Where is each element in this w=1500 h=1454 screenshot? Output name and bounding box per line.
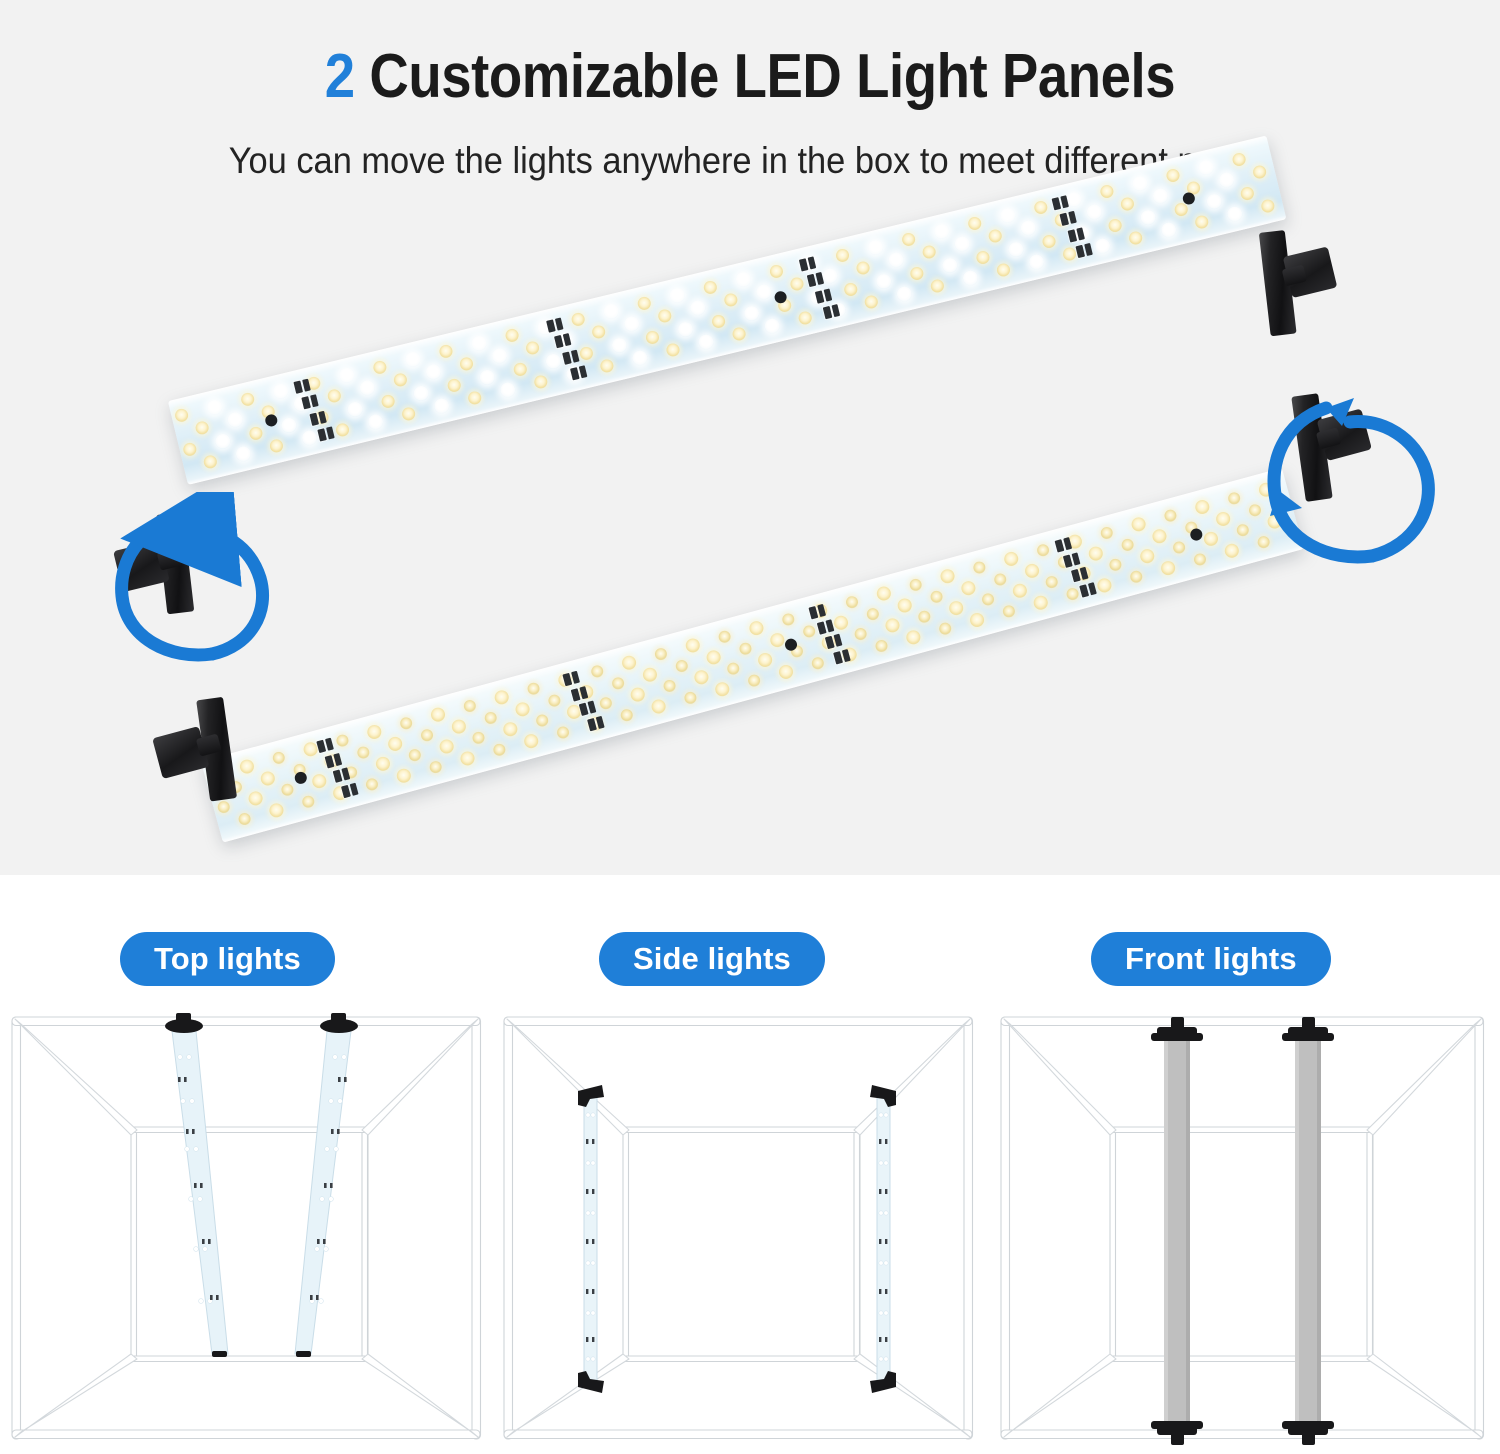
led-dot: [194, 420, 210, 436]
led-dot: [961, 269, 979, 287]
led-dot: [1023, 562, 1040, 579]
led-dot: [1236, 523, 1251, 538]
config-column-top-lights: Top lights: [0, 875, 490, 1454]
led-dot: [909, 265, 925, 281]
label-side-lights: Side lights: [599, 932, 825, 986]
led-dot: [1247, 503, 1262, 518]
led-dot: [734, 271, 752, 289]
led-dot: [1160, 221, 1178, 239]
led-dot: [408, 748, 423, 763]
led-dot: [478, 368, 496, 386]
led-dot: [789, 277, 805, 293]
led-dot: [372, 360, 388, 376]
led-dot: [975, 249, 991, 265]
led-dot: [929, 278, 945, 294]
led-dot: [1087, 545, 1104, 562]
led-dot: [981, 592, 996, 607]
led-dot: [1044, 575, 1059, 590]
led-dot: [311, 773, 328, 790]
led-dot: [1159, 560, 1176, 577]
led-dot: [240, 392, 256, 408]
led-dot: [1120, 197, 1136, 213]
led-dot: [650, 698, 667, 715]
led-dot: [404, 351, 422, 369]
led-dot: [953, 235, 971, 253]
upper-led-panel: [168, 135, 1287, 484]
led-dot: [1065, 587, 1080, 602]
led-dot: [610, 676, 625, 691]
mounting-hole: [1189, 527, 1204, 542]
led-dot: [777, 664, 794, 681]
led-dot: [1266, 513, 1283, 530]
led-dot: [742, 304, 760, 322]
diagram-front-lights: [985, 1009, 1500, 1454]
led-dot: [683, 691, 698, 706]
led-dot: [522, 733, 539, 750]
led-dot: [438, 738, 455, 755]
led-dot: [781, 612, 796, 627]
led-dot: [731, 326, 747, 342]
led-dot: [1128, 570, 1143, 585]
led-dot: [948, 600, 965, 617]
led-dot: [591, 324, 607, 340]
led-dot: [1094, 237, 1112, 255]
led-dot: [865, 607, 880, 622]
led-dot: [462, 698, 477, 713]
led-dot: [697, 333, 715, 351]
led-dot: [768, 631, 785, 648]
led-dot: [1120, 537, 1135, 552]
led-dot: [801, 624, 816, 639]
led-dot: [1150, 527, 1167, 544]
led-dot: [689, 299, 707, 317]
led-dot: [525, 340, 541, 356]
led-dot: [214, 432, 232, 450]
lightbox-cube-front: [985, 1009, 1500, 1454]
led-dot: [1001, 604, 1016, 619]
led-dot: [450, 718, 467, 735]
led-dot: [280, 416, 298, 434]
led-dot: [1202, 531, 1219, 548]
led-dot: [867, 239, 885, 257]
led-dot: [226, 411, 244, 429]
led-dot: [491, 347, 509, 365]
led-dot: [917, 610, 932, 625]
led-dot: [1019, 219, 1037, 237]
led-dot: [428, 760, 443, 775]
led-dot: [355, 745, 370, 760]
led-dot: [366, 723, 383, 740]
led-dot: [641, 666, 658, 683]
led-dot: [654, 647, 669, 662]
led-dot: [364, 777, 379, 792]
hero-section: 2 Customizable LED Light Panels You can …: [0, 0, 1500, 875]
led-dot: [755, 283, 773, 301]
led-dot: [875, 585, 892, 602]
led-dot: [657, 309, 673, 325]
led-dot: [446, 377, 462, 393]
led-dot: [570, 312, 586, 328]
smd-component: [807, 274, 817, 287]
led-dot: [1194, 214, 1210, 230]
led-dot: [1197, 159, 1215, 177]
led-dot: [300, 429, 318, 447]
label-front-lights: Front lights: [1091, 932, 1331, 986]
led-dot: [665, 342, 681, 358]
led-dot: [797, 310, 813, 326]
led-dot: [968, 612, 985, 629]
led-dot: [237, 812, 252, 827]
led-dot: [1218, 171, 1236, 189]
led-dot: [335, 422, 351, 438]
led-dot: [937, 622, 952, 637]
led-dot: [999, 207, 1017, 225]
led-dot: [395, 768, 412, 785]
led-dot: [578, 345, 594, 361]
smd-component: [833, 651, 843, 664]
led-dot: [526, 681, 541, 696]
led-dot: [602, 303, 620, 321]
led-dot: [887, 251, 905, 269]
led-dot: [269, 438, 285, 454]
smd-component: [1079, 584, 1089, 597]
led-dot: [1099, 525, 1114, 540]
led-dot: [921, 245, 937, 261]
led-dot: [1194, 498, 1211, 515]
led-dot: [546, 693, 561, 708]
led-dot: [1260, 198, 1276, 214]
led-dot: [693, 669, 710, 686]
led-dot: [704, 649, 721, 666]
led-dot: [374, 756, 391, 773]
led-dot: [717, 629, 732, 644]
lower-led-board: [201, 468, 1304, 843]
led-dot: [1027, 253, 1045, 271]
led-dot: [174, 408, 190, 424]
diagram-top-lights: [0, 1009, 490, 1454]
lower-led-panel: [201, 468, 1304, 843]
led-dot: [493, 689, 510, 706]
led-dot: [1223, 543, 1240, 560]
led-dot: [429, 706, 446, 723]
led-dot: [1107, 217, 1123, 233]
smd-component: [316, 740, 326, 753]
led-dot: [884, 617, 901, 634]
led-dot: [703, 280, 719, 296]
led-dot: [1003, 550, 1020, 567]
led-dot: [645, 329, 661, 345]
led-dot: [335, 733, 350, 748]
led-dot: [1128, 230, 1144, 246]
led-dot: [738, 641, 753, 656]
led-dot: [1163, 508, 1178, 523]
led-dot: [875, 272, 893, 290]
led-dot: [544, 352, 562, 370]
led-dot: [1131, 175, 1149, 193]
led-dot: [533, 374, 549, 390]
led-dot: [769, 264, 785, 280]
led-dot: [711, 313, 727, 329]
diagram-side-lights: [492, 1009, 982, 1454]
led-dot: [1099, 184, 1115, 200]
led-dot: [182, 441, 198, 457]
led-dot: [674, 658, 689, 673]
smd-component: [808, 606, 818, 619]
led-dot: [1256, 535, 1271, 550]
led-dot: [590, 664, 605, 679]
led-dot: [757, 652, 774, 669]
led-dot: [234, 445, 252, 463]
smd-component: [546, 320, 556, 333]
smd-component: [571, 688, 581, 701]
smd-component: [301, 396, 311, 409]
led-dot: [684, 637, 701, 654]
led-dot: [901, 232, 917, 248]
led-dot: [904, 629, 921, 646]
led-dot: [467, 390, 483, 406]
led-dot: [1011, 583, 1028, 600]
led-dot: [1252, 165, 1268, 181]
smd-component: [562, 351, 572, 364]
lightbox-cube-top: [0, 1009, 490, 1454]
led-dot: [380, 393, 396, 409]
led-dot: [401, 406, 417, 422]
led-dot: [929, 589, 944, 604]
led-dot: [327, 388, 343, 404]
led-dot: [855, 261, 871, 277]
led-dot: [433, 397, 451, 415]
smd-component: [817, 621, 827, 634]
smd-component: [317, 428, 327, 441]
led-dot: [874, 639, 889, 654]
label-top-lights: Top lights: [120, 932, 335, 986]
led-dot: [499, 381, 517, 399]
led-dot: [1227, 491, 1242, 506]
led-dot: [1036, 543, 1051, 558]
led-dot: [1152, 187, 1170, 205]
led-dot: [267, 802, 284, 819]
upper-led-board: [168, 135, 1287, 484]
configurations-section: Top lights: [0, 875, 1500, 1454]
bracket-upper-left: [105, 496, 257, 633]
led-dot: [1130, 516, 1147, 533]
led-dot: [713, 681, 730, 698]
led-dot: [763, 317, 781, 335]
led-dot: [202, 454, 218, 470]
led-dot: [1172, 541, 1187, 556]
led-dot: [668, 287, 686, 305]
led-dot: [301, 795, 316, 810]
led-dot: [746, 674, 761, 689]
led-dot: [535, 714, 550, 729]
led-dot: [908, 577, 923, 592]
led-dot: [939, 567, 956, 584]
led-dot: [1214, 510, 1231, 527]
led-dot: [1139, 208, 1157, 226]
led-dot: [459, 356, 475, 372]
led-dot: [835, 248, 851, 264]
led-dot: [386, 735, 403, 752]
smd-component: [587, 718, 597, 731]
led-dot: [346, 400, 364, 418]
led-dot: [248, 425, 264, 441]
led-dot: [1165, 168, 1181, 184]
lightbox-cube-side: [492, 1009, 982, 1454]
led-dot: [987, 229, 1003, 245]
led-dot: [619, 708, 634, 723]
led-dot: [1192, 552, 1207, 567]
led-dot: [1007, 240, 1025, 258]
led-dot: [1108, 558, 1123, 573]
led-dot: [972, 560, 987, 575]
led-dot: [1032, 594, 1049, 611]
bracket-upper-right: [1245, 209, 1388, 344]
led-dot: [748, 619, 765, 636]
led-dot: [438, 344, 454, 360]
led-dot: [662, 679, 677, 694]
led-dot: [959, 579, 976, 596]
led-dot: [599, 358, 615, 374]
smd-component: [1054, 539, 1064, 552]
led-dot: [996, 262, 1012, 278]
led-dot: [629, 686, 646, 703]
led-dot: [366, 413, 384, 431]
led-dot: [471, 731, 486, 746]
led-dot: [863, 294, 879, 310]
led-dot: [206, 399, 224, 417]
led-dot: [399, 716, 414, 731]
led-dot: [419, 728, 434, 743]
led-dot: [636, 296, 652, 312]
led-dot: [513, 700, 530, 717]
led-dot: [620, 654, 637, 671]
led-dot: [555, 725, 570, 740]
bracket-lower-right: [1278, 371, 1423, 510]
config-column-side-lights: Side lights: [492, 875, 982, 1454]
smd-component: [333, 770, 343, 783]
led-dot: [358, 379, 376, 397]
led-dot: [676, 320, 694, 338]
smd-component: [1075, 245, 1085, 258]
led-dot: [459, 750, 476, 767]
led-dot: [338, 367, 356, 385]
led-dot: [1239, 185, 1255, 201]
led-dot: [599, 696, 614, 711]
smd-component: [293, 381, 303, 394]
led-dot: [1095, 577, 1112, 594]
led-dot: [1139, 548, 1156, 565]
led-dot: [483, 710, 498, 725]
led-dot: [1033, 200, 1049, 216]
led-dot: [967, 216, 983, 232]
led-dot: [896, 597, 913, 614]
led-dot: [1231, 152, 1247, 168]
led-dot: [272, 383, 290, 401]
led-dot: [424, 363, 442, 381]
led-dot: [933, 223, 951, 241]
led-dot: [895, 285, 913, 303]
led-dot: [502, 721, 519, 738]
led-dot: [845, 595, 860, 610]
led-dot: [504, 328, 520, 344]
led-dot: [726, 662, 741, 677]
led-dot: [512, 361, 528, 377]
led-dot: [631, 349, 649, 367]
led-dot: [843, 281, 859, 297]
led-dot: [1226, 205, 1244, 223]
led-dot: [623, 315, 641, 333]
led-dot: [393, 372, 409, 388]
smd-component: [1071, 569, 1081, 582]
led-dot: [1205, 192, 1223, 210]
led-panel-photo: [0, 0, 1500, 875]
led-dot: [1041, 233, 1057, 249]
led-dot: [470, 335, 488, 353]
led-dot: [941, 256, 959, 274]
led-dot: [832, 614, 849, 631]
led-dot: [810, 656, 825, 671]
led-dot: [723, 293, 739, 309]
smd-component: [1052, 197, 1062, 210]
led-dot: [1085, 203, 1103, 221]
led-dot: [992, 572, 1007, 587]
smd-component: [1060, 213, 1070, 226]
led-dot: [1257, 481, 1274, 498]
led-dot: [412, 384, 430, 402]
config-column-front-lights: Front lights: [985, 875, 1500, 1454]
led-dot: [853, 627, 868, 642]
mounting-hole: [264, 413, 278, 427]
led-dot: [492, 743, 507, 758]
led-dot: [610, 336, 628, 354]
